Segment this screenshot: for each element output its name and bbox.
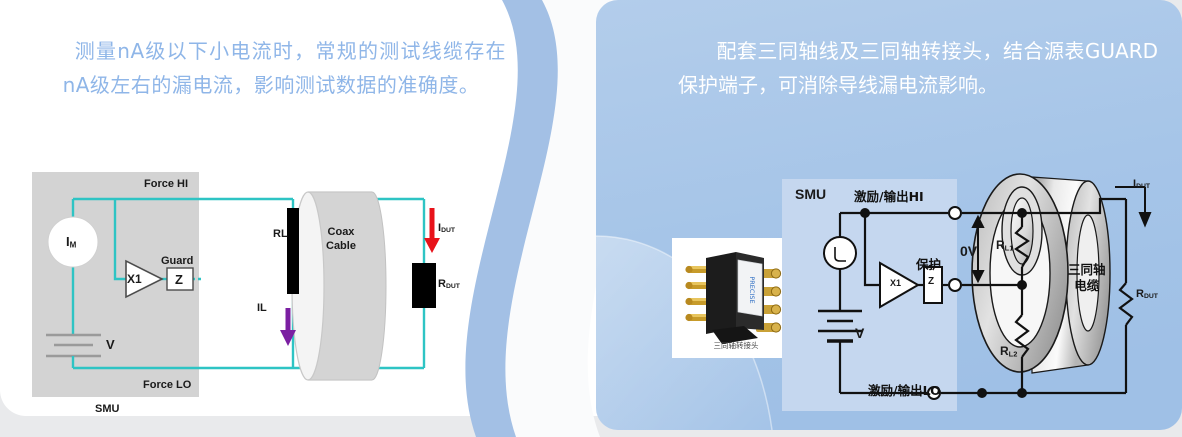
- label-force-lo-right: 激励/输出LO: [868, 380, 941, 399]
- label-guard-z-right: Z: [928, 276, 934, 287]
- label-rdut: RDUT: [438, 278, 460, 290]
- label-smu-right: SMU: [795, 186, 826, 202]
- dut-resistor-block: [412, 263, 436, 308]
- label-voltage-source-right: V: [855, 325, 864, 341]
- terminal-guard: [949, 279, 961, 291]
- junction-dot-lo: [977, 388, 987, 398]
- idut-arrow-right: [1115, 187, 1150, 225]
- junction-dot-cable-mid: [1017, 280, 1027, 290]
- label-voltage-source: V: [106, 337, 115, 352]
- label-idut: IDUT: [438, 222, 455, 234]
- junction-dot-cable-top: [1017, 208, 1027, 218]
- leak-resistor-rl: [287, 208, 299, 294]
- label-force-hi-right: 激励/输出HI: [854, 186, 924, 205]
- label-amp-x1-right: X1: [890, 278, 901, 288]
- label-guard: Guard: [161, 255, 193, 267]
- left-headline: 测量nA级以下小电流时，常规的测试线缆存在nA级左右的漏电流，影响测试数据的准确…: [36, 34, 506, 102]
- junction-dot-cable-bottom: [1017, 388, 1027, 398]
- label-guard-right: 保护: [916, 254, 941, 273]
- label-force-lo: Force LO: [143, 379, 191, 391]
- label-coax-cable: CoaxCable: [326, 225, 356, 253]
- label-zero-volt: 0V: [960, 243, 977, 259]
- left-headline-text: 测量nA级以下小电流时，常规的测试线缆存在nA级左右的漏电流，影响测试数据的准确…: [63, 39, 506, 97]
- label-guard-z: Z: [175, 272, 183, 287]
- terminal-hi: [949, 207, 961, 219]
- label-rl2: RL2: [1000, 344, 1017, 358]
- label-rl: RL: [273, 228, 288, 240]
- current-source-circle: [824, 237, 856, 269]
- adapter-label: PRECISE: [738, 260, 762, 316]
- label-amplifier-x1: X1: [127, 272, 142, 286]
- coax-cable-graphic: [292, 192, 386, 380]
- junction-dot-hi: [860, 208, 870, 218]
- slide-canvas: 测量nA级以下小电流时，常规的测试线缆存在nA级左右的漏电流，影响测试数据的准确…: [0, 0, 1182, 437]
- label-triax-cable: 三同轴电缆: [1068, 262, 1106, 294]
- label-rdut-right: RDUT: [1136, 288, 1158, 300]
- label-smu-caption: SMU: [95, 403, 119, 415]
- right-headline: 配套三同轴线及三同轴转接头，结合源表GUARD保护端子，可消除导线漏电流影响。: [678, 34, 1158, 102]
- label-il: IL: [257, 302, 267, 314]
- label-idut-right: IDUT: [1133, 178, 1150, 190]
- label-meter: IM: [66, 234, 76, 249]
- label-force-hi: Force HI: [144, 178, 188, 190]
- svg-text:PRECISE: PRECISE: [748, 276, 756, 303]
- label-rl1: RL1: [996, 238, 1013, 252]
- right-headline-text: 配套三同轴线及三同轴转接头，结合源表GUARD保护端子，可消除导线漏电流影响。: [678, 39, 1158, 97]
- resistor-rdut: [1120, 283, 1132, 325]
- right-circuit-diagram: [770, 165, 1182, 415]
